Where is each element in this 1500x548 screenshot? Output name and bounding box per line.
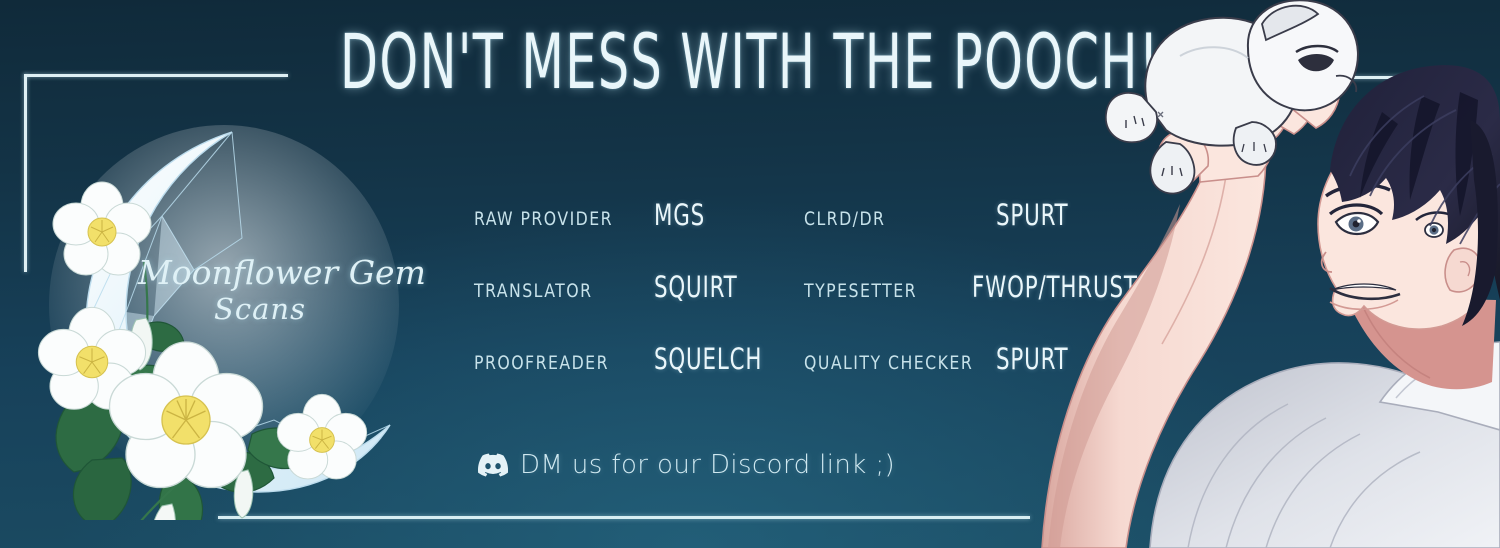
- bracket-right-vertical-line: [1462, 76, 1465, 166]
- credit-label: QUALITY CHECKER: [804, 352, 979, 374]
- credit-entry-proofreader: PROOFREADER SQUELCH: [474, 342, 804, 376]
- credits-page: DON'T MESS WITH THE POOCH!: [0, 0, 1500, 548]
- discord-cta[interactable]: DM us for our Discord link ;): [478, 450, 895, 480]
- credit-label: CLRD/DR: [804, 208, 979, 230]
- credit-entry-clrd-dr: CLRD/DR SPURT: [804, 198, 1174, 232]
- credit-value: SPURT: [996, 342, 1068, 376]
- credit-entry-translator: TRANSLATOR SQUIRT: [474, 270, 804, 304]
- credit-label: TRANSLATOR: [474, 280, 636, 302]
- credit-label: RAW PROVIDER: [474, 208, 636, 230]
- credit-value: MGS: [654, 198, 705, 232]
- credit-row: RAW PROVIDER MGS CLRD/DR SPURT: [474, 198, 1174, 270]
- credit-row: PROOFREADER SQUELCH QUALITY CHECKER SPUR…: [474, 342, 1174, 414]
- bracket-left-vertical-line: [24, 74, 27, 272]
- credit-label: PROOFREADER: [474, 352, 636, 374]
- credit-value: SQUIRT: [654, 270, 738, 304]
- credit-value: SPURT: [996, 198, 1068, 232]
- credit-entry-quality-checker: QUALITY CHECKER SPURT: [804, 342, 1174, 376]
- discord-cta-label: DM us for our Discord link ;): [520, 450, 895, 480]
- credit-value: SQUELCH: [654, 342, 762, 376]
- page-title: DON'T MESS WITH THE POOCH!: [210, 22, 1290, 102]
- discord-icon: [478, 453, 508, 477]
- credit-entry-raw-provider: RAW PROVIDER MGS: [474, 198, 804, 232]
- credit-entry-typesetter: TYPESETTER FWOP/THRUST: [804, 270, 1174, 304]
- credit-value: FWOP/THRUST: [972, 270, 1138, 304]
- credit-row: TRANSLATOR SQUIRT TYPESETTER FWOP/THRUST: [474, 270, 1174, 342]
- credits-list: RAW PROVIDER MGS CLRD/DR SPURT TRANSLATO…: [474, 198, 1174, 414]
- scanlation-group-logo: Moonflower Gem Scans: [34, 120, 414, 520]
- eye: [1330, 205, 1382, 234]
- credit-label: TYPESETTER: [804, 280, 957, 302]
